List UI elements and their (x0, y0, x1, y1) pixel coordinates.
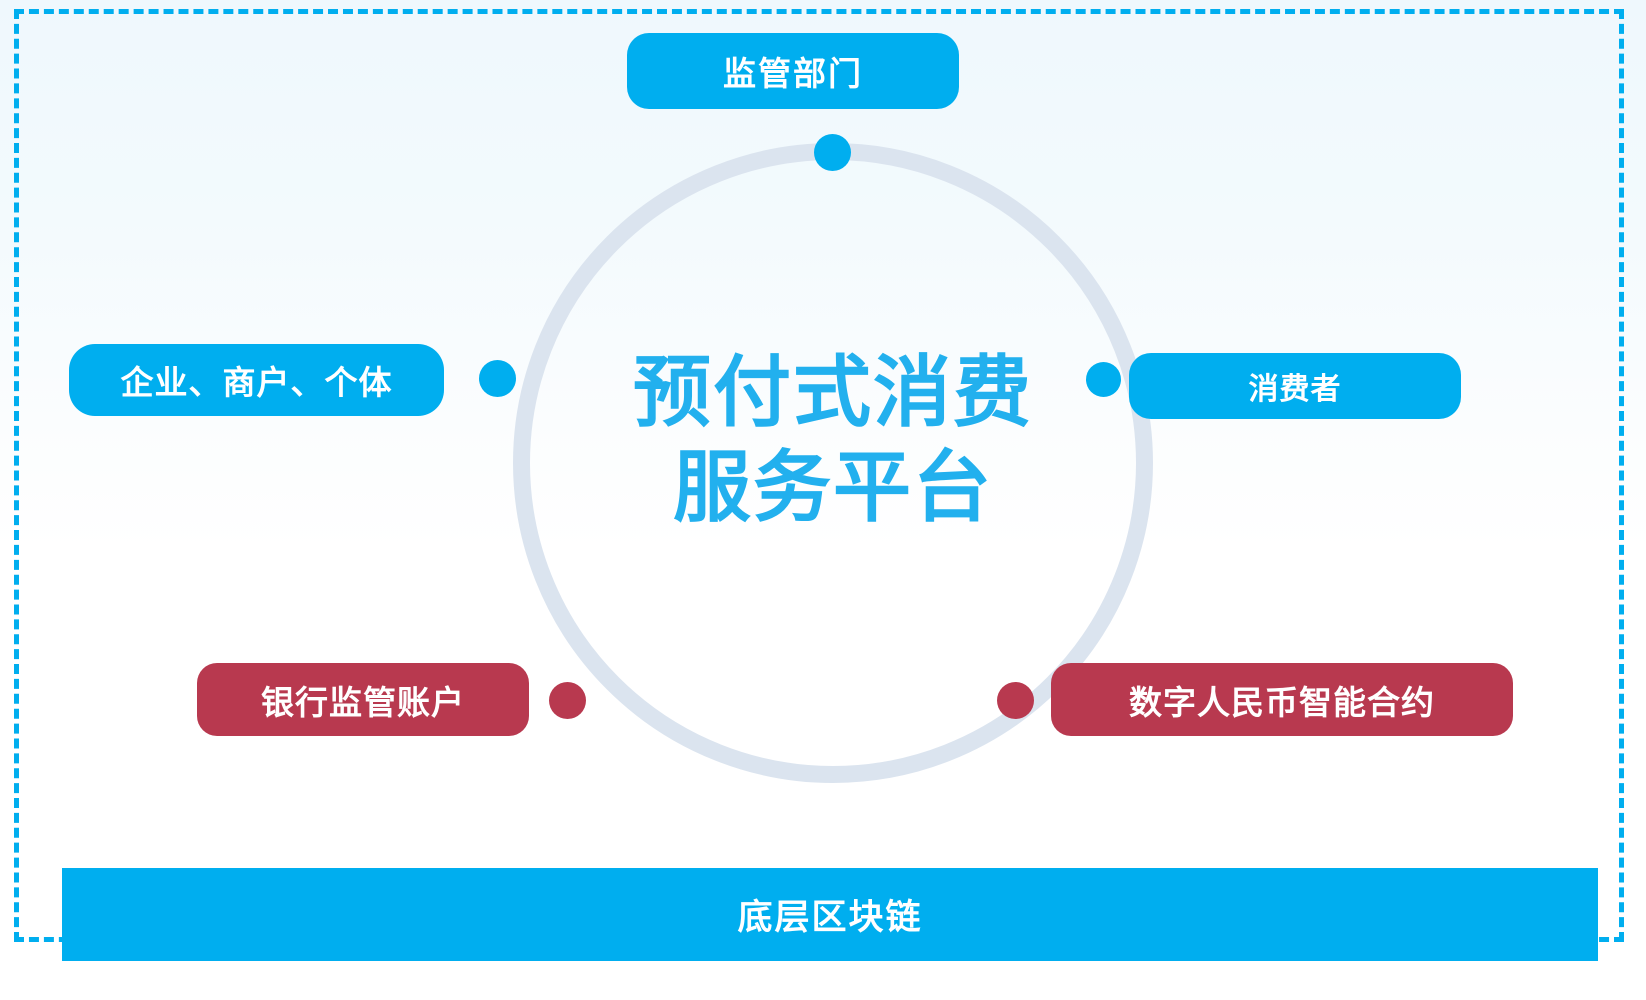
center-title-line-1: 预付式消费 (533, 345, 1133, 440)
foundation-bar-blockchain: 底层区块链 (62, 868, 1598, 961)
node-digital-rmb-smart-contract[interactable]: 数字人民币智能合约 (1051, 663, 1513, 736)
connector-dot-top (814, 134, 851, 171)
connector-dot-bottom-right (997, 682, 1034, 719)
node-consumers[interactable]: 消费者 (1129, 353, 1461, 419)
diagram-canvas: 监管部门 企业、商户、个体 消费者 银行监管账户 数字人民币智能合约 预付式消费… (0, 0, 1646, 1000)
center-platform-title: 预付式消费 服务平台 (533, 345, 1133, 535)
connector-dot-left (479, 360, 516, 397)
center-title-line-2: 服务平台 (533, 440, 1133, 535)
node-regulatory-department[interactable]: 监管部门 (627, 33, 959, 109)
connector-dot-bottom-left (549, 682, 586, 719)
node-bank-supervisory-account[interactable]: 银行监管账户 (197, 663, 529, 736)
node-enterprises-merchants-individuals[interactable]: 企业、商户、个体 (69, 344, 444, 416)
